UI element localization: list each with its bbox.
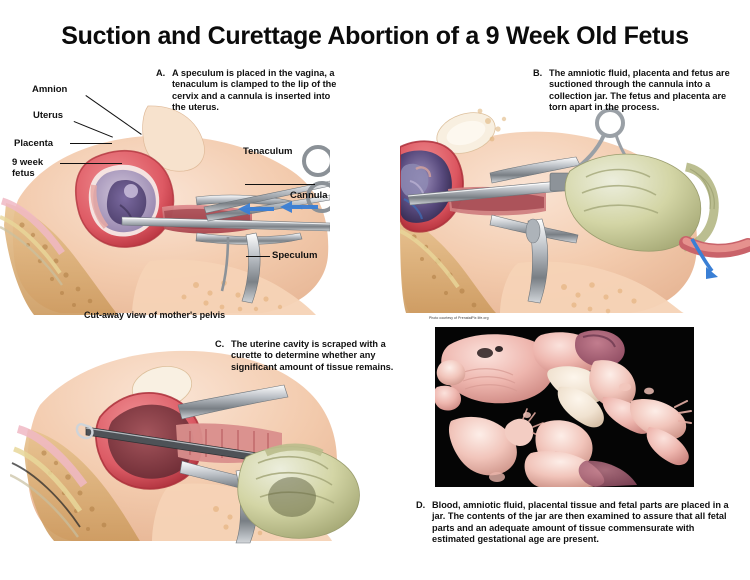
fetal-tissue-photo <box>435 327 694 487</box>
panel-d-photograph <box>435 327 694 487</box>
page-title: Suction and Curettage Abortion of a 9 We… <box>0 22 750 51</box>
panel-c-caption: C. The uterine cavity is scraped with a … <box>215 339 395 373</box>
leader-fetus <box>60 163 122 164</box>
label-nine-week-fetus: 9 week fetus <box>12 157 43 179</box>
panel-a-letter: A. <box>156 68 165 79</box>
photo-credit: Photo courtesy of PrenatalPix life.org <box>429 316 489 320</box>
label-uterus: Uterus <box>33 110 63 121</box>
label-tenaculum: Tenaculum <box>243 146 292 157</box>
panel-c-illustration <box>10 345 370 545</box>
panel-a-caption-text: A speculum is placed in the vagina, a te… <box>172 68 341 114</box>
leader-speculum <box>246 256 270 257</box>
panel-d-caption-text: Blood, amniotic fluid, placental tissue … <box>432 500 738 546</box>
leader-placenta <box>70 143 112 144</box>
label-speculum: Speculum <box>272 250 317 261</box>
panel-d-letter: D. <box>416 500 425 511</box>
panel-b-caption: B. The amniotic fluid, placenta and fetu… <box>533 68 738 114</box>
panel-b-caption-text: The amniotic fluid, placenta and fetus a… <box>549 68 738 114</box>
label-amnion: Amnion <box>32 84 67 95</box>
panel-b-illustration <box>400 95 750 315</box>
panel-b-letter: B. <box>533 68 542 79</box>
leader-cannula <box>245 184 315 185</box>
panel-d-caption: D. Blood, amniotic fluid, placental tiss… <box>416 500 738 546</box>
panel-a-footer-caption: Cut-away view of mother's pelvis <box>84 310 225 321</box>
label-placenta: Placenta <box>14 138 53 149</box>
panel-c-caption-text: The uterine cavity is scraped with a cur… <box>231 339 395 373</box>
label-cannula: Cannula <box>290 190 327 201</box>
panel-a-caption: A. A speculum is placed in the vagina, a… <box>156 68 341 114</box>
panel-c-letter: C. <box>215 339 224 350</box>
